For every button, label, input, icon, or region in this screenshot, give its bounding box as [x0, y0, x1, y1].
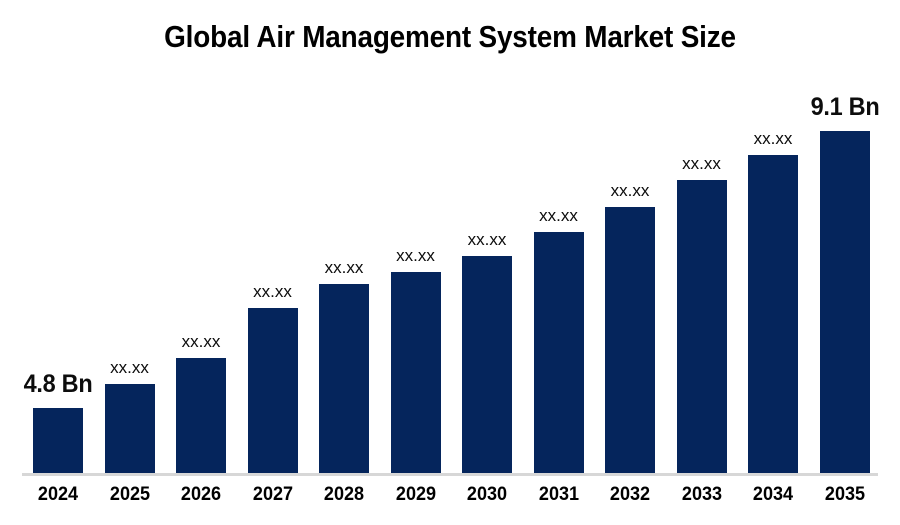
bar-value-label: xx.xx: [230, 282, 316, 302]
bar[interactable]: [462, 256, 512, 473]
bar-value-label: xx.xx: [87, 358, 173, 378]
bar-group: xx.xx2028: [319, 0, 369, 525]
x-axis-tick-label: 2032: [589, 484, 671, 506]
x-axis-tick-label: 2035: [804, 484, 886, 506]
bar-group: xx.xx2025: [105, 0, 155, 525]
bar-group: xx.xx2032: [605, 0, 655, 525]
bar[interactable]: [534, 232, 584, 473]
x-axis-tick-label: 2024: [17, 484, 99, 506]
bar-group: xx.xx2031: [534, 0, 584, 525]
bar-group: xx.xx2034: [748, 0, 798, 525]
bar[interactable]: [677, 180, 727, 473]
x-axis-tick-label: 2025: [89, 484, 171, 506]
bar-group: xx.xx2033: [677, 0, 727, 525]
bar-group: xx.xx2026: [176, 0, 226, 525]
bar-value-label: xx.xx: [730, 129, 816, 149]
bar-value-label: xx.xx: [587, 181, 673, 201]
x-axis-tick-label: 2028: [303, 484, 385, 506]
bar[interactable]: [33, 408, 83, 473]
x-axis-tick-label: 2030: [446, 484, 528, 506]
bar[interactable]: [319, 284, 369, 473]
x-axis-tick-label: 2027: [232, 484, 314, 506]
x-axis-tick-label: 2031: [518, 484, 600, 506]
bar[interactable]: [748, 155, 798, 473]
bar-value-label: 9.1 Bn: [804, 93, 885, 122]
bar[interactable]: [820, 131, 870, 473]
bar-value-label: xx.xx: [659, 154, 745, 174]
bar-group: xx.xx2027: [248, 0, 298, 525]
bar-group: 9.1 Bn2035: [820, 0, 870, 525]
x-axis-tick-label: 2029: [375, 484, 457, 506]
bar[interactable]: [248, 308, 298, 473]
bar[interactable]: [105, 384, 155, 473]
bar-group: 4.8 Bn2024: [33, 0, 83, 525]
bar[interactable]: [391, 272, 441, 473]
x-axis-tick-label: 2034: [732, 484, 814, 506]
bar-value-label: xx.xx: [444, 230, 530, 250]
x-axis-tick-label: 2033: [661, 484, 743, 506]
chart-canvas: Global Air Management System Market Size…: [0, 0, 900, 525]
x-axis-tick-label: 2026: [160, 484, 242, 506]
bar-value-label: xx.xx: [158, 332, 244, 352]
plot-area: 4.8 Bn2024xx.xx2025xx.xx2026xx.xx2027xx.…: [0, 0, 900, 525]
bar-group: xx.xx2029: [391, 0, 441, 525]
bar[interactable]: [605, 207, 655, 473]
bar[interactable]: [176, 358, 226, 473]
bar-value-label: xx.xx: [516, 206, 602, 226]
bar-group: xx.xx2030: [462, 0, 512, 525]
